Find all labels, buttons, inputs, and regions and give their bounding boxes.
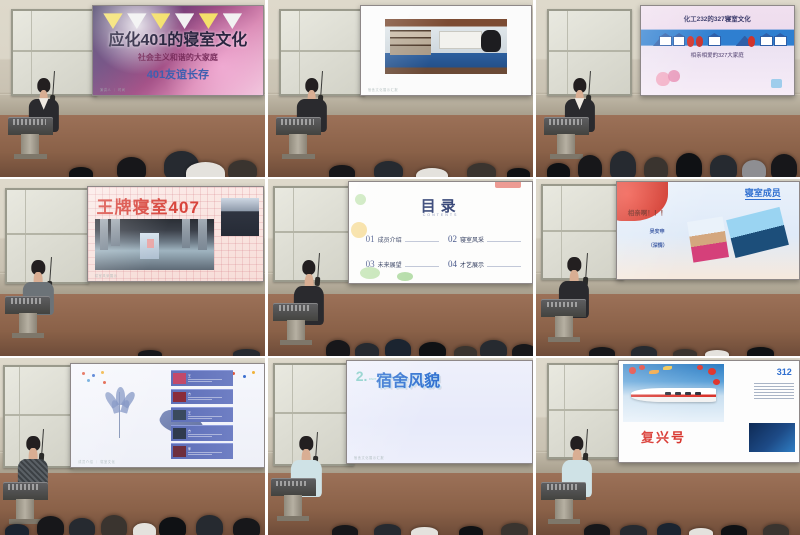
- dorm-room-photo: [385, 19, 507, 74]
- slide-9-side-text: [754, 383, 793, 399]
- slide-6-caption-name: 吴安申: [650, 228, 665, 235]
- projection-screen-9: 复兴号 312: [618, 360, 800, 463]
- member-name: 方: [188, 430, 231, 433]
- slide-4-title: 王牌寝室407: [97, 193, 200, 218]
- projection-screen-5: 目录 CONTENTS 01 成员介绍 02 寝室风采 03 未来展望: [348, 181, 533, 284]
- collage-panel-9[interactable]: 复兴号 312: [536, 358, 800, 535]
- member-name: 方: [188, 393, 231, 396]
- house-icon: [659, 36, 672, 46]
- projection-screen-4: 王牌寝室407 寝室风采展示: [87, 186, 264, 282]
- slide-6-exclaim: 相亲啊！！！: [628, 207, 667, 217]
- toc-number: 03: [366, 260, 375, 269]
- toc-label: 才艺展示: [460, 260, 484, 269]
- slide-4-footer: 寝室风采展示: [95, 273, 118, 278]
- projection-screen-7: 王 方 王: [70, 363, 265, 468]
- audience-5: [268, 306, 533, 356]
- member-thumbnail: [173, 373, 186, 383]
- house-icon: [760, 36, 773, 46]
- member-card-list: 王 方 王: [171, 370, 233, 458]
- collage-panel-8[interactable]: 2. PART 宿舍风貌 宿舍文化展示汇报: [268, 358, 533, 535]
- slide-9-side-number: 312: [777, 367, 792, 377]
- audience-8: [268, 485, 533, 535]
- slide-1-title: 应化401的寝室文化: [93, 26, 263, 50]
- house-icon: [774, 36, 787, 46]
- house-icon: [673, 36, 686, 46]
- toc-label: 成员介绍: [378, 235, 402, 244]
- slide-7-footer: 成员介绍 ｜ 寝室文化: [78, 459, 115, 464]
- toc-number: 01: [366, 235, 375, 244]
- member-card[interactable]: 方: [171, 389, 233, 405]
- toc-label: 寝室风采: [460, 235, 484, 244]
- gift-icon: [771, 79, 782, 88]
- projection-screen-1: 应化401的寝室文化 社会主义和谐的大家庭 401友谊长存 演讲人 ｜ 时间: [92, 5, 264, 96]
- toc-number: 04: [448, 260, 457, 269]
- audience-1: [0, 127, 265, 177]
- photo-collage-grid: 应化401的寝室文化 社会主义和谐的大家庭 401友谊长存 演讲人 ｜ 时间: [0, 0, 800, 533]
- member-thumbnail: [173, 410, 186, 420]
- toc-item-04[interactable]: 04 才艺展示: [448, 246, 521, 268]
- collage-panel-7[interactable]: 王 方 王: [0, 358, 265, 535]
- member-photo-1: [687, 216, 729, 262]
- train-illustration: [623, 364, 724, 423]
- bag-detail: [481, 30, 501, 52]
- toc-rule: [405, 241, 439, 242]
- projection-screen-3: 化工232的327寝室文化 相亲相爱的327大家庭: [640, 5, 795, 96]
- podium-logo-icon: [11, 298, 43, 303]
- toc-rule: [405, 266, 439, 267]
- member-thumbnail: [173, 392, 186, 402]
- projection-screen-8: 2. PART 宿舍风貌 宿舍文化展示汇报: [346, 360, 534, 465]
- member-card[interactable]: 王: [171, 407, 233, 423]
- toc-number: 02: [448, 235, 457, 244]
- collage-panel-4[interactable]: 王牌寝室407 寝室风采展示: [0, 179, 265, 356]
- lion-dance-icon: [687, 36, 695, 47]
- podium-logo-icon: [549, 119, 581, 124]
- member-name: 王: [188, 375, 231, 378]
- collage-panel-6[interactable]: 寝室成员 相亲啊！！！ 吴安申 （深情）: [536, 179, 800, 356]
- audience-4: [0, 306, 265, 356]
- slide-6-caption-note: （深情）: [648, 242, 668, 249]
- train-body: [631, 388, 715, 402]
- projection-screen-6: 寝室成员 相亲啊！！！ 吴安申 （深情）: [616, 181, 800, 280]
- collage-panel-5[interactable]: 目录 CONTENTS 01 成员介绍 02 寝室风采 03 未来展望: [268, 179, 533, 356]
- audience-9: [536, 485, 800, 535]
- toc-rule: [487, 266, 521, 267]
- slide-3-title: 化工232的327寝室文化: [641, 13, 794, 23]
- slide-1-subtitle: 社会主义和谐的大家庭: [93, 52, 263, 63]
- toc-rule: [487, 241, 521, 242]
- slide-2-footer: 宿舍文化展示汇报: [368, 87, 398, 92]
- slide-3-subtitle: 相亲相爱的327大家庭: [641, 51, 794, 59]
- ink-lotus-painting: [98, 381, 144, 445]
- slide-9-title: 复兴号: [641, 427, 686, 446]
- toc-items: 01 成员介绍 02 寝室风采 03 未来展望 04 才艺展示: [366, 222, 521, 268]
- slide-1-tagline: 401友谊长存: [93, 66, 263, 82]
- member-card[interactable]: 王: [171, 370, 233, 386]
- slide-6-title: 寝室成员: [745, 186, 781, 200]
- member-thumbnail: [173, 446, 186, 456]
- house-icon: [708, 36, 721, 46]
- audience-3: [536, 127, 800, 177]
- member-card[interactable]: 李: [171, 443, 233, 459]
- toc-subtitle: CONTENTS: [349, 213, 532, 217]
- shelf-detail: [390, 30, 432, 55]
- toc-item-01[interactable]: 01 成员介绍: [366, 222, 439, 244]
- podium-logo-icon: [13, 119, 45, 124]
- slide-9-side-photo: [749, 423, 796, 451]
- audience-2: [268, 127, 533, 177]
- member-name: 王: [188, 412, 231, 415]
- podium-logo-icon: [281, 119, 313, 124]
- pinboard-detail: [439, 31, 483, 49]
- member-card[interactable]: 方: [171, 425, 233, 441]
- member-name: 李: [188, 448, 231, 451]
- slide-8-footer: 宿舍文化展示汇报: [354, 455, 384, 460]
- collage-panel-2[interactable]: 宿舍文化展示汇报: [268, 0, 533, 177]
- projection-screen-2: 宿舍文化展示汇报: [360, 5, 532, 96]
- slide-1-footer: 演讲人 ｜ 时间: [100, 87, 126, 92]
- collage-panel-1[interactable]: 应化401的寝室文化 社会主义和谐的大家庭 401友谊长存 演讲人 ｜ 时间: [0, 0, 265, 177]
- group-photo: [221, 198, 259, 236]
- member-thumbnail: [173, 428, 186, 438]
- toc-item-03[interactable]: 03 未来展望: [366, 246, 439, 268]
- collage-panel-3[interactable]: 化工232的327寝室文化 相亲相爱的327大家庭: [536, 0, 800, 177]
- corridor-photo: [95, 219, 214, 270]
- presenter-head: [302, 260, 315, 275]
- section-title: 宿舍风貌: [376, 367, 440, 391]
- toc-item-02[interactable]: 02 寝室风采: [448, 222, 521, 244]
- section-number: 2.: [356, 368, 368, 384]
- toc-label: 未来展望: [378, 260, 402, 269]
- audience-7: [0, 485, 265, 535]
- audience-6: [536, 306, 800, 356]
